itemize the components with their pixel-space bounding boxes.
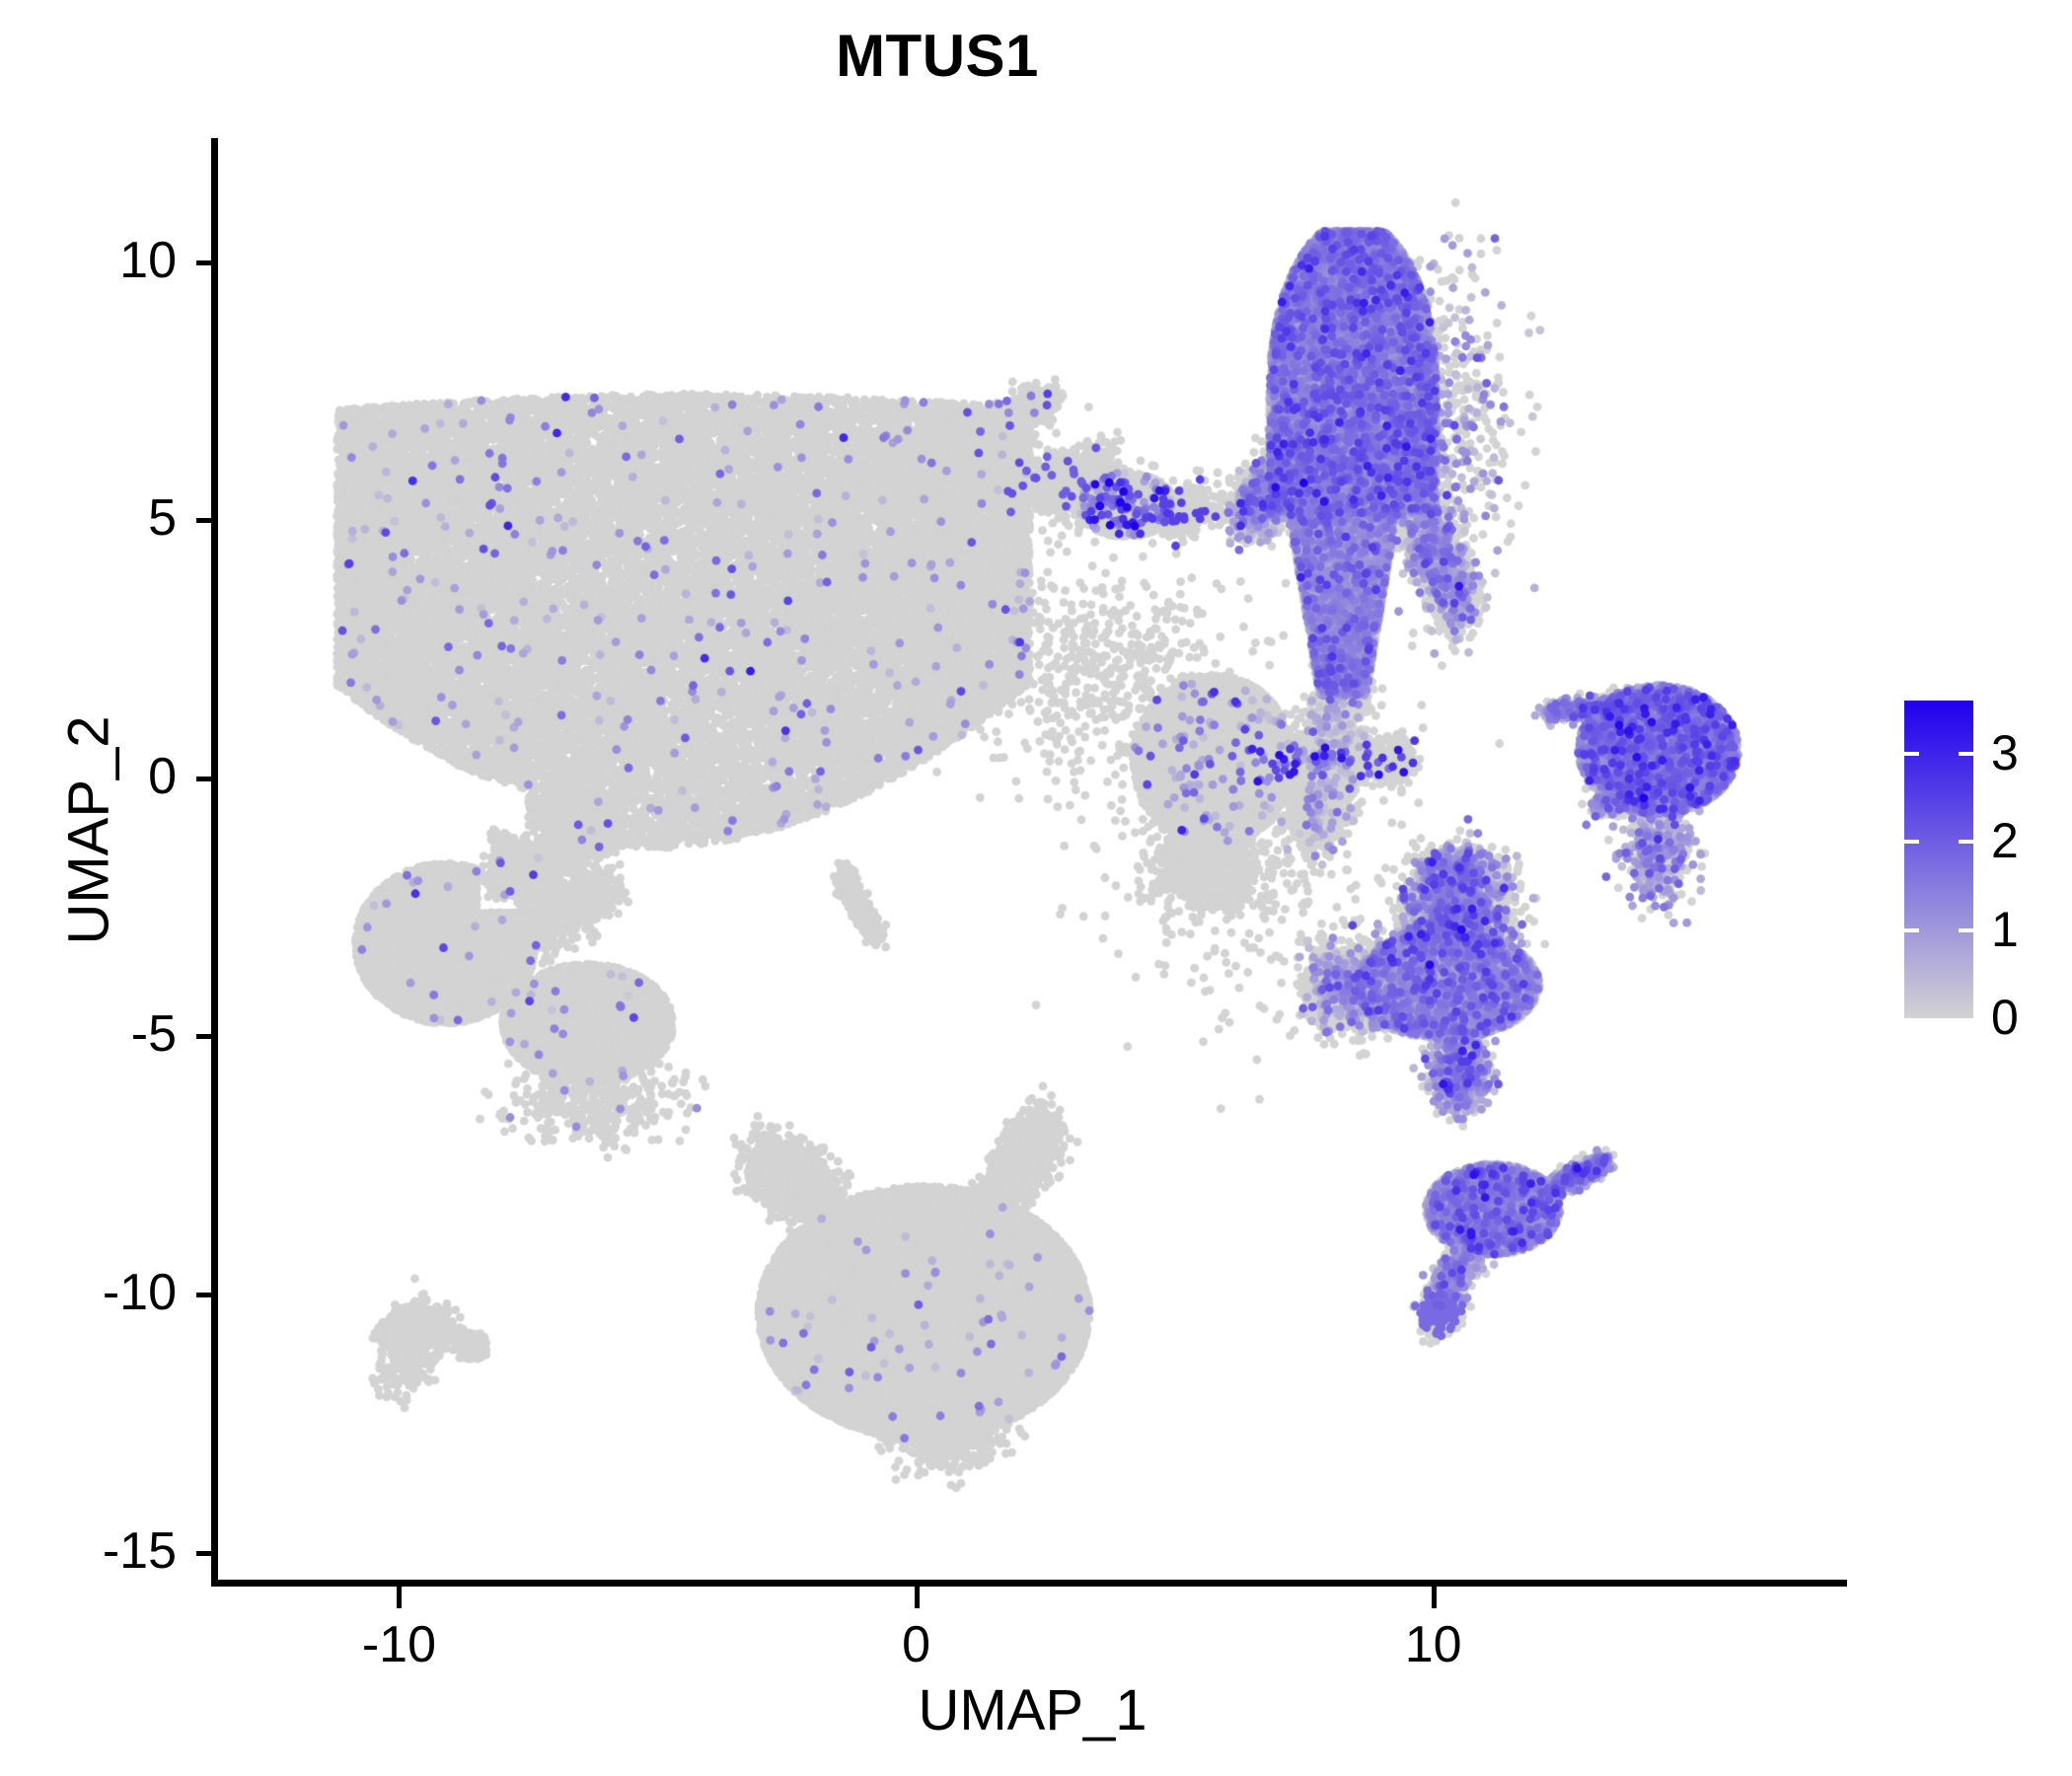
color-legend-label: 3 <box>1991 728 2019 777</box>
color-legend-label: 1 <box>1991 905 2019 954</box>
color-legend-tick-mark <box>1904 752 1973 756</box>
y-tick-mark <box>196 518 218 523</box>
color-legend: 0123 <box>1904 701 2062 1026</box>
color-legend-tick-mark <box>1904 928 1973 932</box>
x-tick-mark <box>1432 1587 1437 1608</box>
plot-panel <box>218 138 1847 1584</box>
x-tick-mark <box>397 1587 402 1608</box>
y-axis-title: UMAP_2 <box>56 436 122 1225</box>
color-legend-label: 0 <box>1991 993 2019 1042</box>
y-axis-line <box>211 138 218 1587</box>
x-tick-label: -10 <box>280 1615 517 1674</box>
y-tick-mark <box>196 777 218 781</box>
color-legend-gradient-bar <box>1904 701 1973 1018</box>
y-tick-label: -15 <box>0 1521 177 1581</box>
y-tick-mark <box>196 260 218 265</box>
color-legend-label: 2 <box>1991 816 2019 865</box>
x-tick-label: 10 <box>1315 1615 1552 1674</box>
y-tick-label: -10 <box>0 1263 177 1322</box>
x-tick-label: 0 <box>798 1615 1035 1674</box>
x-axis-title: UMAP_1 <box>218 1677 1847 1743</box>
x-axis-line <box>211 1580 1847 1587</box>
feature-plot-root: MTUS1 1050-5-10-15 -10010 UMAP_1 UMAP_2 … <box>0 0 2072 1776</box>
umap-scatter-canvas <box>218 138 1847 1584</box>
color-legend-tick-mark <box>1904 840 1973 844</box>
y-tick-mark <box>196 1034 218 1039</box>
page-title: MTUS1 <box>0 22 1875 90</box>
y-tick-mark <box>196 1293 218 1297</box>
x-tick-mark <box>915 1587 920 1608</box>
y-tick-mark <box>196 1551 218 1556</box>
y-tick-label: 10 <box>0 231 177 290</box>
